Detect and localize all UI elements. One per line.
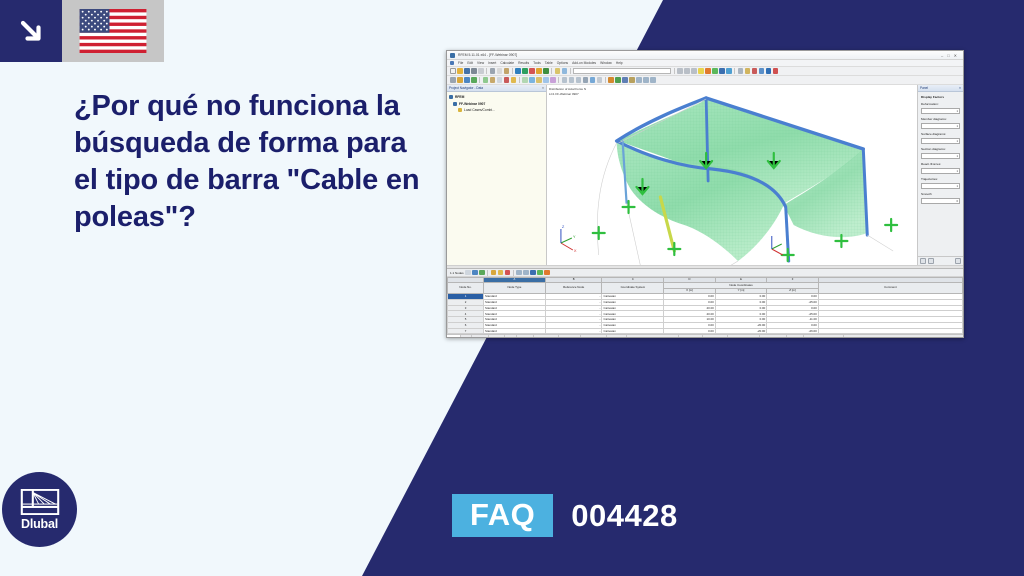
axis-z-label: Z xyxy=(562,224,565,229)
load-icon[interactable] xyxy=(522,77,528,83)
cell-y[interactable]: -20.00 xyxy=(715,328,767,334)
faq-number: 004428 xyxy=(571,498,677,534)
surface-icon[interactable] xyxy=(483,77,489,83)
page-title: ¿Por qué no funciona la búsqueda de form… xyxy=(74,88,434,236)
menu-item-calculate[interactable]: Calculate xyxy=(500,61,514,65)
tab-surfaces[interactable]: Surfaces xyxy=(489,335,505,338)
snap-icon[interactable] xyxy=(745,68,751,74)
help-icon[interactable] xyxy=(773,68,779,74)
panel-label-section-diagrams: Section diagrams: xyxy=(921,147,960,151)
support-marker xyxy=(782,249,794,261)
table-toolbar[interactable]: 1.1 Nodes xyxy=(447,269,963,277)
panel-label-reactions-forces: React./Forces: xyxy=(921,162,960,166)
panel-label-deformation: Deformation: xyxy=(921,102,960,106)
table-export-icon[interactable] xyxy=(505,270,511,276)
table-body[interactable]: 1 Standard - Cartesian 0.00 0.00 0.00 2 … xyxy=(448,293,963,333)
new-icon[interactable] xyxy=(450,68,456,74)
cell-node-type[interactable]: Standard xyxy=(484,328,546,334)
nav-prev-icon[interactable] xyxy=(684,68,690,74)
opening-icon[interactable] xyxy=(497,77,503,83)
menu-item-insert[interactable]: Insert xyxy=(488,61,496,65)
table-title: 1.1 Nodes xyxy=(450,271,464,275)
menu-item-file[interactable]: File xyxy=(458,61,463,65)
tab-solids[interactable]: Solids xyxy=(505,335,518,338)
cell-ref-node[interactable]: - xyxy=(545,328,602,334)
color-scale-icon[interactable] xyxy=(712,68,718,74)
cell-node-no: 7 xyxy=(448,328,484,334)
cut-icon[interactable] xyxy=(490,68,496,74)
tab-cross-sections[interactable]: Cross-Sections xyxy=(679,335,703,338)
panel-value: 1 xyxy=(956,124,958,128)
array-icon[interactable] xyxy=(643,77,649,83)
view-iso-icon[interactable] xyxy=(583,77,589,83)
navigator-node-loadcases[interactable]: Load Cases/Combi... xyxy=(449,108,544,112)
table-refresh-icon[interactable] xyxy=(537,270,543,276)
window-titlebar: RFEM 5.11.01 x64 - [FF-Webinar 0907] – □… xyxy=(447,51,963,60)
isolines-icon[interactable] xyxy=(726,68,732,74)
nodal-load-icon[interactable] xyxy=(529,77,535,83)
tab-line-supports[interactable]: Line Supports xyxy=(559,335,581,338)
rotate-icon[interactable] xyxy=(590,77,596,83)
panel-spinner-surface-diagrams[interactable]: 1 xyxy=(921,138,960,144)
rfem-app-icon xyxy=(450,53,455,58)
maximize-icon[interactable]: □ xyxy=(947,53,949,58)
select-icon[interactable] xyxy=(450,77,456,83)
close-icon[interactable]: × xyxy=(542,86,544,90)
toolbar-separator xyxy=(558,77,559,83)
tab-lines[interactable]: Lines xyxy=(461,335,473,338)
panel-spinner-reactions-forces[interactable]: 1 xyxy=(921,168,960,174)
section-icon[interactable] xyxy=(719,68,725,74)
panel-label-member-diagrams: Member diagrams: xyxy=(921,117,960,121)
menu-item-results[interactable]: Results xyxy=(518,61,529,65)
pan-icon[interactable] xyxy=(597,77,603,83)
toolbar-separator xyxy=(570,68,571,74)
toolbar-separator xyxy=(487,270,488,276)
nav-next-icon[interactable] xyxy=(691,68,697,74)
calculate-icon[interactable] xyxy=(529,68,535,74)
mirror-icon[interactable] xyxy=(636,77,642,83)
grid-icon[interactable] xyxy=(738,68,744,74)
window-controls[interactable]: – □ ✕ xyxy=(941,53,960,58)
header-node-no: Node No. xyxy=(448,283,484,294)
preview-icon[interactable] xyxy=(478,68,484,74)
loadcase-icon xyxy=(458,108,462,112)
toolbar-separator xyxy=(674,68,675,74)
toolbar-row-1[interactable] xyxy=(447,67,963,76)
panel-spinner-deformation[interactable]: 1 xyxy=(921,108,960,114)
menu-item-addon-modules[interactable]: Add-on Modules xyxy=(572,61,596,65)
header-comment: Comment xyxy=(818,283,962,294)
menu-item-tools[interactable]: Tools xyxy=(533,61,541,65)
display-panel[interactable]: Panel × Display Factors Deformation: 1 M… xyxy=(917,85,963,265)
axis-y-label: Y xyxy=(573,234,576,239)
zoom-icon[interactable] xyxy=(562,68,568,74)
nodes-table[interactable]: A B C D E F Node No. Node Type Reference… xyxy=(447,277,963,334)
table-settings-icon[interactable] xyxy=(530,270,536,276)
logo-wordmark: Dlubal xyxy=(21,517,58,531)
panel-value: 1 xyxy=(956,169,958,173)
panel-color-button[interactable] xyxy=(928,258,934,264)
support-marker xyxy=(623,201,635,213)
membrane-structure-model: X Y Z xyxy=(547,85,917,265)
menu-bar[interactable]: File Edit View Insert Calculate Results … xyxy=(447,60,963,67)
header-reference-node: Reference Node xyxy=(545,283,602,294)
cell-coord-system[interactable]: Cartesian xyxy=(602,328,664,334)
panel-label-smooth: Smooth xyxy=(921,192,960,196)
panel-label-trajectories: Trajectories: xyxy=(921,177,960,181)
panel-spinner-trajectories[interactable]: 1 xyxy=(921,183,960,189)
panel-value: 1 xyxy=(956,109,958,113)
support-marker xyxy=(668,243,680,255)
table-panel: 1.1 Nodes A B C D E xyxy=(447,268,963,338)
dim-icon[interactable] xyxy=(752,68,758,74)
table-next-icon[interactable] xyxy=(523,270,529,276)
undo-icon[interactable] xyxy=(515,68,521,74)
layers-icon[interactable] xyxy=(608,77,614,83)
line-icon[interactable] xyxy=(464,77,470,83)
panel-spinner-member-diagrams[interactable]: 1 xyxy=(921,123,960,129)
info-icon[interactable] xyxy=(766,68,772,74)
language-flag-badge xyxy=(62,0,164,62)
results-icon[interactable] xyxy=(536,68,542,74)
toolbar-separator xyxy=(513,270,514,276)
coordinate-axes-origin: X Y Z xyxy=(561,224,577,253)
model-icon xyxy=(453,102,457,106)
navigator-label: FF-Webinar 0907 xyxy=(459,102,485,106)
table-new-icon[interactable] xyxy=(465,270,471,276)
table-tab-strip[interactable]: Nodes Lines Materials Surfaces Solids Op… xyxy=(447,334,963,338)
measure-icon[interactable] xyxy=(759,68,765,74)
table-print-icon[interactable] xyxy=(544,270,550,276)
open-icon[interactable] xyxy=(457,68,463,74)
axis-y xyxy=(772,244,782,249)
member-icon[interactable] xyxy=(471,77,477,83)
panel-settings-button[interactable] xyxy=(920,258,926,264)
model-viewport[interactable]: Distribution of Axial Force N LC1 FF-Web… xyxy=(547,85,917,265)
close-icon[interactable]: ✕ xyxy=(954,53,957,58)
faq-badge: FAQ xyxy=(452,494,553,537)
navigator-tree[interactable]: RFEM FF-Webinar 0907 Load Cases/Combi... xyxy=(447,92,546,265)
paste-icon[interactable] xyxy=(504,68,510,74)
surface-result-icon[interactable] xyxy=(705,68,711,74)
navigator-label: Load Cases/Combi... xyxy=(464,108,495,112)
redo-icon[interactable] xyxy=(522,68,528,74)
node-icon[interactable] xyxy=(457,77,463,83)
tab-materials[interactable]: Materials xyxy=(472,335,488,338)
visibility-icon[interactable] xyxy=(615,77,621,83)
folder-icon xyxy=(449,95,453,99)
panel-value: 0 xyxy=(956,199,958,203)
filter-icon[interactable] xyxy=(622,77,628,83)
axis-x xyxy=(772,249,783,255)
surface-load-icon[interactable] xyxy=(543,77,549,83)
panel-footer[interactable] xyxy=(918,256,963,265)
menu-item-options[interactable]: Options xyxy=(557,61,568,65)
panel-value: 1 xyxy=(956,184,958,188)
table-filter-icon[interactable] xyxy=(491,270,497,276)
cell-comment[interactable] xyxy=(818,328,962,334)
application-window-screenshot: RFEM 5.11.01 x64 - [FF-Webinar 0907] – □… xyxy=(446,50,964,338)
refresh-icon[interactable] xyxy=(543,68,549,74)
panel-section-display-factors: Display Factors xyxy=(921,95,960,99)
app-menu-icon[interactable] xyxy=(450,61,454,65)
axis-y xyxy=(561,238,572,243)
dlubal-logo: Dlubal xyxy=(2,472,77,547)
loadcase-combobox[interactable] xyxy=(573,68,671,74)
navigator-node-rfem[interactable]: RFEM xyxy=(449,95,544,99)
close-icon[interactable]: × xyxy=(959,86,961,90)
table-row[interactable]: 7 Standard - Cartesian 0.00 -20.00 -26.0… xyxy=(448,328,963,334)
deformation-icon[interactable] xyxy=(698,68,704,74)
support-marker xyxy=(885,219,897,231)
table-delete-icon[interactable] xyxy=(479,270,485,276)
tab-orthotropic-surfaces[interactable]: Orthotropic Surfaces and Membranes xyxy=(627,335,679,338)
navigator-header: Project Navigator - Data × xyxy=(447,85,546,92)
panel-header: Panel × xyxy=(918,85,963,92)
tab-member-eccentricities[interactable]: Member Eccentricities xyxy=(728,335,761,338)
tab-nodal-supports[interactable]: Nodal Supports xyxy=(534,335,558,338)
arrow-badge xyxy=(0,0,62,62)
line-load-icon[interactable] xyxy=(536,77,542,83)
table-edit-icon[interactable] xyxy=(472,270,478,276)
axis-x-label: X xyxy=(574,248,577,253)
menu-item-window[interactable]: Window xyxy=(600,61,612,65)
toolbar-separator xyxy=(486,68,487,74)
tab-nodes[interactable]: Nodes xyxy=(447,335,461,338)
toolbar-separator xyxy=(605,77,606,83)
view-side-icon[interactable] xyxy=(576,77,582,83)
hinge-icon[interactable] xyxy=(511,77,517,83)
navigator-title: Project Navigator - Data xyxy=(449,86,483,90)
panel-value: 1 xyxy=(956,154,958,158)
extrude-icon[interactable] xyxy=(650,77,656,83)
panel-spinner-section-diagrams[interactable]: 1 xyxy=(921,153,960,159)
render-icon[interactable] xyxy=(555,68,561,74)
tab-surface-supports[interactable]: Surface Supports xyxy=(581,335,608,338)
copy-icon[interactable] xyxy=(497,68,503,74)
project-navigator[interactable]: Project Navigator - Data × RFEM FF-Webin… xyxy=(447,85,547,265)
menu-item-table[interactable]: Table xyxy=(545,61,553,65)
menu-item-view[interactable]: View xyxy=(477,61,484,65)
group-icon[interactable] xyxy=(629,77,635,83)
navigator-node-model[interactable]: FF-Webinar 0907 xyxy=(449,102,544,106)
arrow-down-right-icon xyxy=(16,16,46,46)
view-front-icon[interactable] xyxy=(562,77,568,83)
toolbar-separator xyxy=(512,68,513,74)
view-top-icon[interactable] xyxy=(569,77,575,83)
window-title: RFEM 5.11.01 x64 - [FF-Webinar 0907] xyxy=(458,53,517,57)
save-icon[interactable] xyxy=(464,68,470,74)
faq-strip: FAQ 004428 xyxy=(452,494,678,537)
cell-z[interactable]: -26.00 xyxy=(767,328,819,334)
tab-openings[interactable]: Openings xyxy=(517,335,534,338)
tab-member-elastic-foundations[interactable]: Member Elastic Foundations xyxy=(804,335,844,338)
solid-icon[interactable] xyxy=(490,77,496,83)
minimize-icon[interactable]: – xyxy=(941,53,943,58)
panel-title: Panel xyxy=(920,86,928,90)
table-sort-icon[interactable] xyxy=(498,270,504,276)
axis-x xyxy=(561,243,573,250)
tab-members[interactable]: Members xyxy=(787,335,804,338)
toolbar-separator xyxy=(479,77,480,83)
panel-value: 1 xyxy=(956,139,958,143)
cell-x[interactable]: 0.00 xyxy=(664,328,716,334)
panel-label-surface-diagrams: Surface diagrams: xyxy=(921,132,960,136)
toolbar-separator xyxy=(551,68,552,74)
tab-member-divisions[interactable]: Member Divisions xyxy=(760,335,787,338)
tab-line-hinges[interactable]: Line Hinges xyxy=(607,335,627,338)
menu-item-edit[interactable]: Edit xyxy=(467,61,473,65)
coordinate-axes-model xyxy=(772,236,783,255)
dlubal-truss-icon xyxy=(20,489,60,515)
toolbar-separator xyxy=(734,68,735,74)
panel-spinner-smooth[interactable]: 0 xyxy=(921,198,960,204)
navigator-label: RFEM xyxy=(455,95,464,99)
work-area: Project Navigator - Data × RFEM FF-Webin… xyxy=(447,85,963,265)
support-marker xyxy=(593,227,605,239)
print-icon[interactable] xyxy=(471,68,477,74)
header-node-type: Node Type xyxy=(484,283,546,294)
us-flag-icon xyxy=(79,9,147,53)
table-prev-icon[interactable] xyxy=(516,270,522,276)
toolbar-row-2[interactable] xyxy=(447,76,963,85)
tab-member-hinges[interactable]: Member Hinges xyxy=(703,335,728,338)
support-icon[interactable] xyxy=(504,77,510,83)
free-load-icon[interactable] xyxy=(550,77,556,83)
header-coordinate-system: Coordinate System xyxy=(602,283,664,294)
menu-item-help[interactable]: Help xyxy=(616,61,623,65)
panel-print-button[interactable] xyxy=(955,258,961,264)
toolbar-separator xyxy=(519,77,520,83)
panel-body[interactable]: Display Factors Deformation: 1 Member di… xyxy=(918,92,963,256)
nav-first-icon[interactable] xyxy=(677,68,683,74)
